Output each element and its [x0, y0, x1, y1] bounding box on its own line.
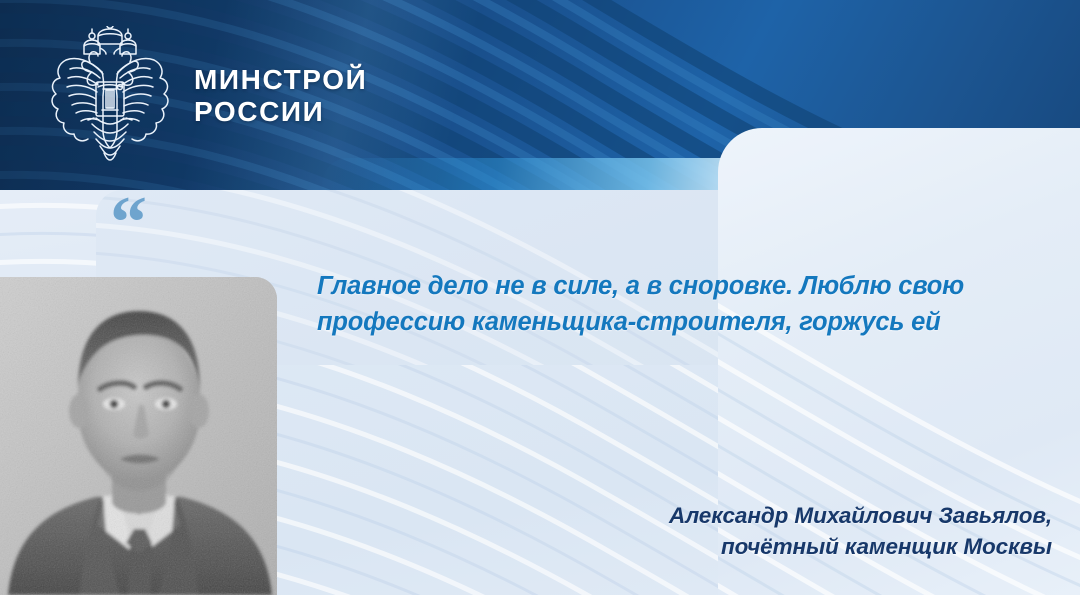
quote-card-slide: “ [0, 0, 1080, 595]
quote-line-1: Главное дело не в силе, а в сноровке. Лю… [317, 272, 964, 300]
wordmark-line-2: РОССИИ [194, 96, 367, 128]
ministry-wordmark: МИНСТРОЙ РОССИИ [194, 64, 367, 128]
quote-line-2: профессию каменьщика-строителя, горжусь … [317, 308, 941, 336]
russian-double-headed-eagle-emblem-icon [48, 26, 172, 166]
attribution-name: Александр Михайлович Завьялов, [412, 500, 1052, 531]
wordmark-line-1: МИНСТРОЙ [194, 64, 367, 95]
portrait-photo-image [0, 277, 277, 595]
portrait-photo [0, 277, 277, 595]
attribution-title: почётный каменщик Москвы [412, 531, 1052, 562]
open-quote-icon: “ [110, 186, 145, 260]
attribution-text: Александр Михайлович Завьялов, почётный … [412, 500, 1052, 562]
quote-text: Главное дело не в силе, а в сноровке. Лю… [317, 268, 1017, 340]
brand-lockup: МИНСТРОЙ РОССИИ [48, 26, 367, 166]
